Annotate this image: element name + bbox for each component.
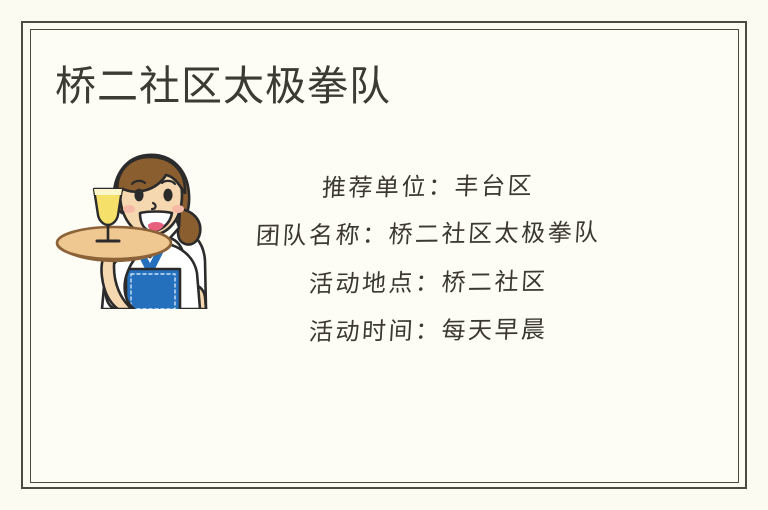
info-line-team-name: 团队名称：桥二社区太极拳队 — [228, 212, 628, 260]
info-line-time-text: 活动时间：每天早晨 — [307, 306, 549, 356]
poster-root: 桥二社区太极拳队 — [0, 0, 768, 510]
page-title: 桥二社区太极拳队 — [55, 61, 391, 111]
ponytail — [178, 209, 200, 245]
info-line-recommend-unit-text: 推荐单位：丰台区 — [321, 162, 536, 212]
left-eye — [134, 189, 143, 202]
info-line-location: 活动地点：桥二社区 — [228, 260, 628, 308]
right-eye — [163, 189, 172, 202]
info-line-recommend-unit: 推荐单位：丰台区 — [228, 164, 628, 212]
info-block: 推荐单位：丰台区 团队名称：桥二社区太极拳队 活动地点：桥二社区 活动时间：每天… — [228, 164, 628, 356]
left-cheek — [123, 205, 135, 213]
apron-body — [126, 269, 180, 309]
wine-glass-top — [94, 189, 122, 195]
waitress-with-tray-illustration — [52, 143, 220, 309]
info-line-time: 活动时间：每天早晨 — [228, 308, 628, 356]
info-line-team-name-text: 团队名称：桥二社区太极拳队 — [254, 208, 602, 260]
info-line-location-text: 活动地点：桥二社区 — [307, 258, 549, 308]
right-cheek — [172, 205, 184, 213]
